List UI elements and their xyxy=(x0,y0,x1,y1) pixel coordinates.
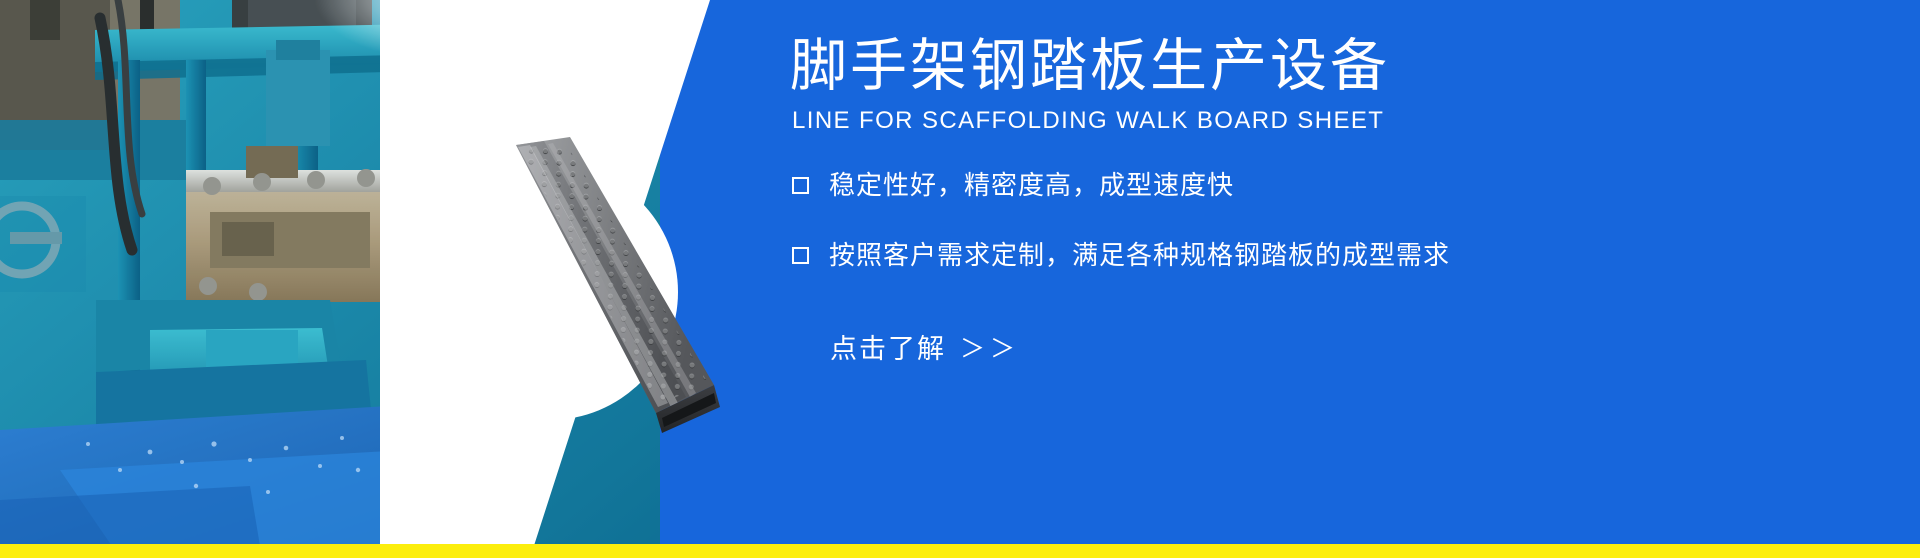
square-checkbox-icon xyxy=(792,177,809,194)
banner-content: 脚手架钢踏板生产设备 LINE FOR SCAFFOLDING WALK BOA… xyxy=(790,0,1890,558)
promo-banner: 脚手架钢踏板生产设备 LINE FOR SCAFFOLDING WALK BOA… xyxy=(0,0,1920,558)
bottom-accent-bar xyxy=(0,544,1920,558)
feature-label-2: 按照客户需求定制，满足各种规格钢踏板的成型需求 xyxy=(829,238,1450,272)
square-checkbox-icon xyxy=(792,247,809,264)
feature-label-1: 稳定性好，精密度高，成型速度快 xyxy=(829,168,1234,202)
page-title: 脚手架钢踏板生产设备 xyxy=(790,34,1390,98)
learn-more-label: 点击了解 xyxy=(830,332,946,366)
double-chevron-right-icon: ＞＞ xyxy=(960,332,1020,366)
feature-item-1: 稳定性好，精密度高，成型速度快 xyxy=(792,168,1852,202)
learn-more-link[interactable]: 点击了解 ＞＞ xyxy=(830,332,1020,366)
feature-item-2: 按照客户需求定制，满足各种规格钢踏板的成型需求 xyxy=(792,238,1852,272)
feature-list: 稳定性好，精密度高，成型速度快 按照客户需求定制，满足各种规格钢踏板的成型需求 xyxy=(792,168,1852,308)
roll-forming-machine-photo xyxy=(0,0,660,558)
page-subtitle: LINE FOR SCAFFOLDING WALK BOARD SHEET xyxy=(792,106,1384,136)
